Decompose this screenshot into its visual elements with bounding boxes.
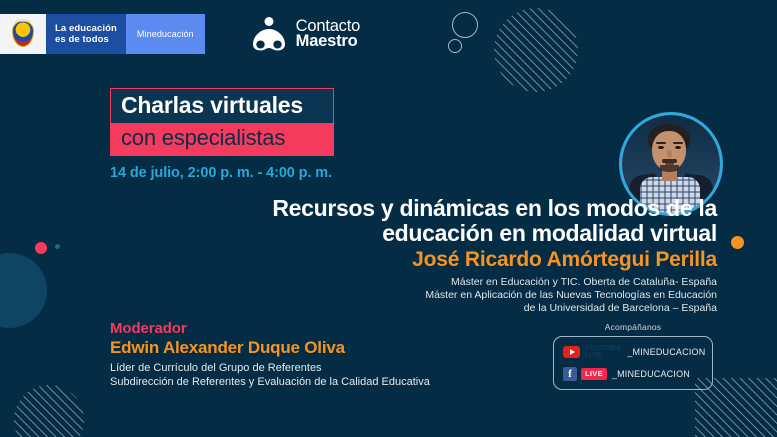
youtube-live-badge: YOUTUBE LIVE [585, 345, 621, 359]
gov-slogan: La educación es de todos [46, 14, 126, 54]
talk-title-block: Recursos y dinámicas en los modos de la … [120, 196, 717, 315]
contacto-maestro-figure-icon [252, 16, 286, 52]
social-block: Acompáñanos YOUTUBE LIVE _MINEDUCACION f… [553, 322, 713, 390]
speaker-credential-3: de la Universidad de Barcelona – España [120, 302, 717, 315]
moderator-role-line1: Líder de Currículo del Grupo de Referent… [110, 361, 430, 375]
moderator-name: Edwin Alexander Duque Oliva [110, 338, 430, 358]
social-row-youtube[interactable]: YOUTUBE LIVE _MINEDUCACION [563, 344, 703, 359]
teal-dot [55, 244, 60, 249]
gov-slogan-line1: La educación [55, 23, 117, 34]
talk-title-line1: Recursos y dinámicas en los modos de la [120, 196, 717, 221]
series-title-line2: con especialistas [110, 123, 334, 156]
outline-circle-small [448, 39, 462, 53]
series-badge: Charlas virtuales con especialistas 14 d… [110, 88, 334, 181]
ministry-label: Mineducación [126, 14, 205, 54]
youtube-icon[interactable] [563, 346, 580, 358]
gov-slogan-line2: es de todos [55, 34, 109, 45]
facebook-live-badge: LIVE [581, 368, 607, 380]
moderator-role-line2: Subdirección de Referentes y Evaluación … [110, 375, 430, 389]
brand-line2: Maestro [296, 34, 360, 49]
orange-dot [731, 236, 744, 249]
social-title: Acompáñanos [553, 322, 713, 332]
facebook-handle: _MINEDUCACION [612, 369, 690, 379]
facebook-icon[interactable]: f [563, 367, 577, 381]
event-datetime: 14 de julio, 2:00 p. m. - 4:00 p. m. [110, 165, 334, 181]
filled-circle-left [0, 253, 47, 328]
speaker-credential-1: Máster en Educación y TIC. Oberta de Cat… [120, 276, 717, 289]
moderator-label: Moderador [110, 320, 430, 337]
webinar-poster: La educación es de todos Mineducación Co… [0, 0, 777, 437]
speaker-credential-2: Máster en Aplicación de las Nuevas Tecno… [120, 289, 717, 302]
youtube-handle: _MINEDUCACION [627, 347, 705, 357]
poster-header: La educación es de todos Mineducación Co… [0, 14, 360, 54]
colombia-coat-of-arms-icon [0, 14, 46, 54]
hatched-circle-bottom-left [14, 385, 84, 437]
contacto-maestro-logo: Contacto Maestro [252, 16, 360, 52]
speaker-name: José Ricardo Amórtegui Perilla [120, 247, 717, 273]
outline-circle-large [452, 12, 478, 38]
talk-title-line2: educación en modalidad virtual [120, 221, 717, 246]
social-row-facebook[interactable]: f LIVE _MINEDUCACION [563, 366, 703, 381]
social-box: YOUTUBE LIVE _MINEDUCACION f LIVE _MINED… [553, 336, 713, 390]
hatched-circle-top-right [494, 8, 578, 92]
series-title-line1: Charlas virtuales [110, 88, 334, 123]
moderator-block: Moderador Edwin Alexander Duque Oliva Lí… [110, 320, 430, 389]
gov-logo: La educación es de todos Mineducación [0, 14, 205, 54]
pink-dot [35, 242, 47, 254]
